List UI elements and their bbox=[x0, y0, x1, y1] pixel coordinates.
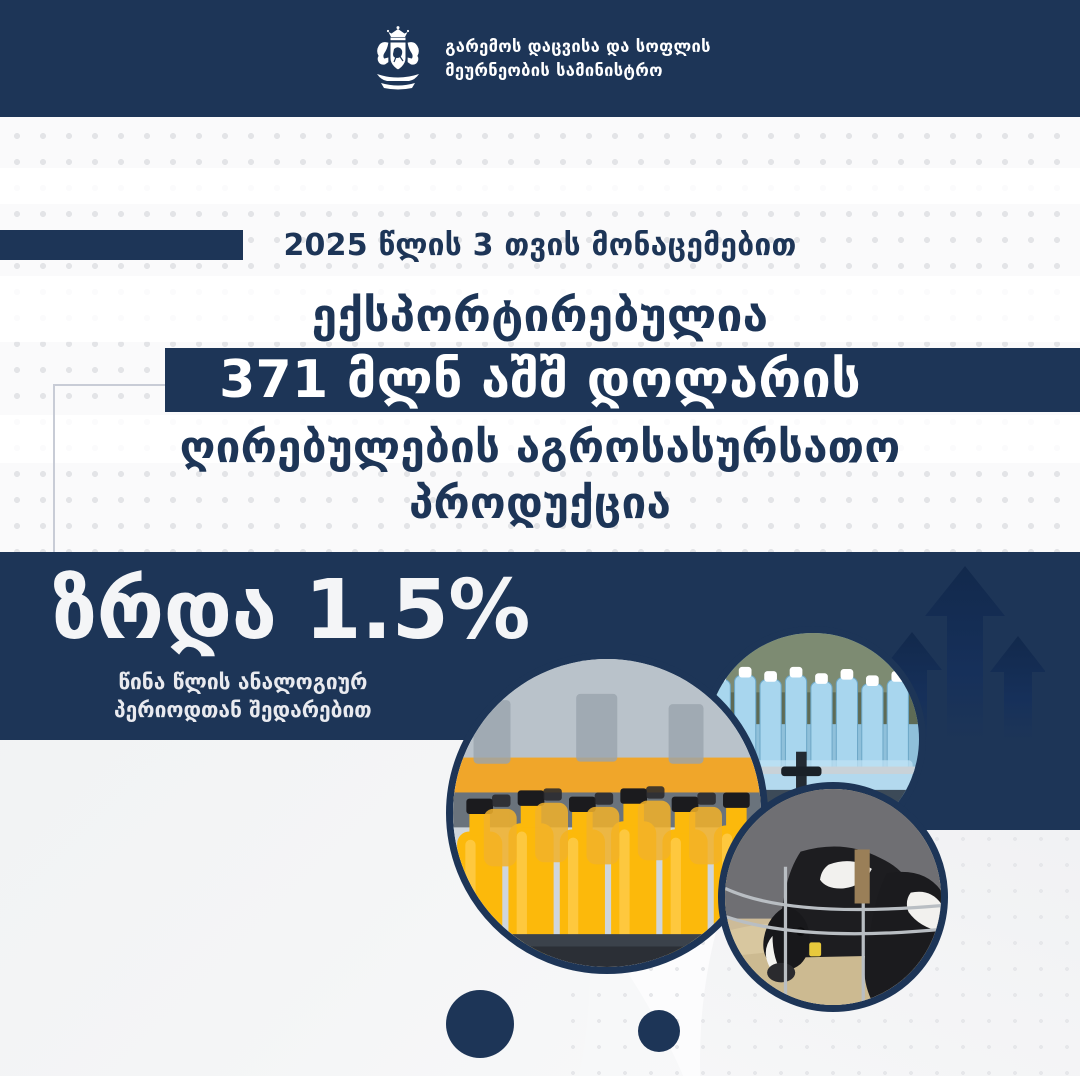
growth-note-line2: პერიოდთან შედარებით bbox=[114, 696, 372, 724]
background-wash-1 bbox=[0, 168, 1080, 204]
decorative-dot-small bbox=[638, 1010, 680, 1052]
period-kicker: 2025 წლის 3 თვის მონაცემებით bbox=[0, 228, 1080, 263]
infographic-poster: გარემოს დაცვისა და სოფლის მეურნეობის სამ… bbox=[0, 0, 1080, 1076]
headline-value: ღირებულების აგროსასურსათო bbox=[0, 422, 1080, 473]
juice-bottling-line-photo bbox=[446, 652, 768, 974]
headline-product: პროდუქცია bbox=[0, 478, 1080, 529]
growth-headline: ზრდა 1.5% bbox=[52, 570, 530, 652]
dairy-cows-photo bbox=[718, 782, 948, 1012]
ministry-name-line1: გარემოს დაცვისა და სოფლის bbox=[445, 35, 711, 58]
georgia-coat-of-arms-icon bbox=[369, 25, 427, 93]
growth-comparison-note: წინა წლის ანალოგიურ პერიოდთან შედარებით bbox=[114, 668, 372, 725]
ministry-name-line2: მეურნეობის სამინისტრო bbox=[445, 59, 711, 82]
headline-exported: ექსპორტირებულია bbox=[0, 288, 1080, 342]
ministry-name: გარემოს დაცვისა და სოფლის მეურნეობის სამ… bbox=[445, 35, 711, 82]
headline-amount: 371 მლნ აშშ დოლარის bbox=[0, 350, 1080, 410]
decorative-dot-large bbox=[446, 990, 514, 1058]
ministry-header: გარემოს დაცვისა და სოფლის მეურნეობის სამ… bbox=[0, 0, 1080, 117]
growth-note-line1: წინა წლის ანალოგიურ bbox=[114, 668, 372, 696]
